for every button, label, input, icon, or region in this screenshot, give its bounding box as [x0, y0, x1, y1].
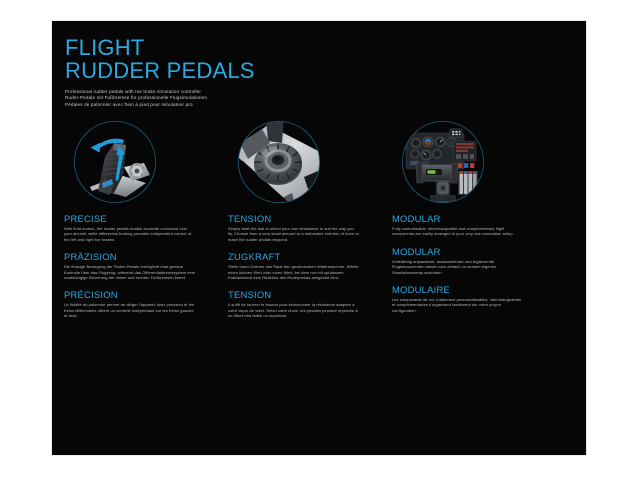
subtitle-fr: Pédales de palonnier avec frein à pied p…	[65, 102, 365, 108]
feature-columns: PRECISE With fluid motion, the rudder pe…	[52, 121, 586, 381]
feature-column-modular: MODULAR Fully customisable, interchangea…	[392, 121, 556, 322]
feature-body-en-tension: Simply twist the dial to select your own…	[228, 226, 360, 242]
feature-heading-en-tension: TENSION	[228, 213, 392, 224]
feature-body-fr-modular: Les composants de vol, totalement person…	[392, 297, 524, 313]
feature-heading-de-precise: PRÄZISION	[64, 251, 228, 262]
feature-block-en-tension: TENSION Simply twist the dial to select …	[228, 213, 392, 242]
feature-body-de-tension: Stelle durch Drehen des Rads den gewünsc…	[228, 264, 360, 280]
cockpit-panel-illustration	[402, 121, 484, 203]
product-sheet-panel: FLIGHT RUDDER PEDALS Professional rudder…	[52, 21, 586, 455]
feature-block-de-tension: ZUGKRAFT Stelle durch Drehen des Rads de…	[228, 251, 392, 280]
feature-block-en-precise: PRECISE With fluid motion, the rudder pe…	[64, 213, 228, 242]
page-title-line-1: FLIGHT	[65, 36, 365, 59]
tension-dial-illustration	[238, 121, 320, 203]
header: FLIGHT RUDDER PEDALS Professional rudder…	[65, 36, 365, 108]
subtitle-group: Professional rudder pedals with toe brak…	[65, 89, 365, 108]
feature-body-de-modular: Vollständig anpassbare, austauschbare un…	[392, 259, 524, 275]
feature-heading-de-modular: MODULAR	[392, 246, 556, 257]
product-sheet-page: FLIGHT RUDDER PEDALS Professional rudder…	[0, 0, 640, 480]
feature-column-precise: PRECISE With fluid motion, the rudder pe…	[64, 121, 228, 328]
feature-heading-en-precise: PRECISE	[64, 213, 228, 224]
feature-body-de-precise: Die flüssige Bewegung der Ruder-Pedale e…	[64, 264, 196, 280]
feature-heading-de-tension: ZUGKRAFT	[228, 251, 392, 262]
feature-block-de-precise: PRÄZISION Die flüssige Bewegung der Rude…	[64, 251, 228, 280]
feature-heading-fr-tension: TENSION	[228, 289, 392, 300]
feature-body-fr-precise: La fluidité du palonnier permet de dirig…	[64, 302, 196, 318]
feature-block-fr-modular: MODULAIRE Les composants de vol, totalem…	[392, 284, 556, 313]
feature-block-fr-precise: PRÉCISION La fluidité du palonnier perme…	[64, 289, 228, 318]
feature-heading-fr-precise: PRÉCISION	[64, 289, 228, 300]
feature-body-en-modular: Fully customisable, interchangeable and …	[392, 226, 524, 237]
feature-body-en-precise: With fluid motion, the rudder pedals ena…	[64, 226, 196, 242]
feature-body-fr-tension: Il suffit de tourner le bouton pour séle…	[228, 302, 360, 318]
feature-block-fr-tension: TENSION Il suffit de tourner le bouton p…	[228, 289, 392, 318]
rudder-pedal-motion-photo	[74, 121, 156, 203]
feature-heading-fr-modular: MODULAIRE	[392, 284, 556, 295]
feature-block-en-modular: MODULAR Fully customisable, interchangea…	[392, 213, 556, 237]
feature-block-de-modular: MODULAR Vollständig anpassbare, austausc…	[392, 246, 556, 275]
rudder-pedal-motion-illustration	[74, 121, 156, 203]
flight-simulator-cockpit-panel-photo	[402, 121, 484, 203]
feature-column-tension: TENSION Simply twist the dial to select …	[228, 121, 392, 328]
page-title-line-2: RUDDER PEDALS	[65, 59, 365, 82]
tension-adjustment-dial-photo	[238, 121, 320, 203]
feature-heading-en-modular: MODULAR	[392, 213, 556, 224]
